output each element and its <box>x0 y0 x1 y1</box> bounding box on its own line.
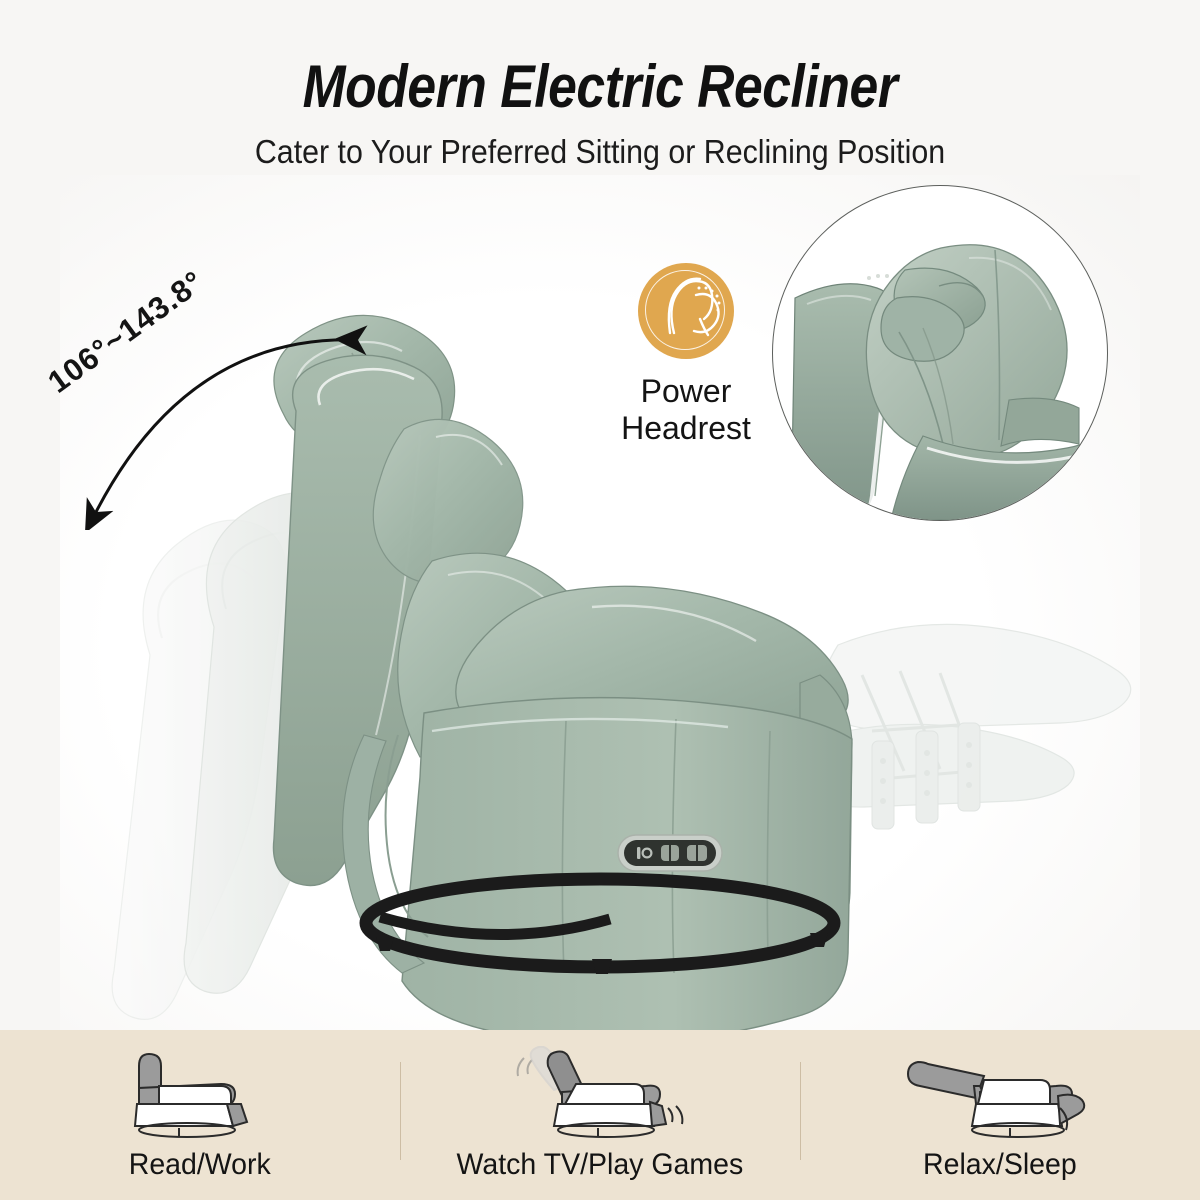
feature-read-work[interactable]: Read/Work <box>0 1030 400 1200</box>
recliner-upright-icon <box>105 1046 295 1142</box>
headrest-closeup-illustration <box>773 186 1107 520</box>
recliner-flat-icon <box>900 1046 1100 1142</box>
badge-circle <box>638 263 734 359</box>
page-title: Modern Electric Recliner <box>84 0 1116 121</box>
page-subtitle: Cater to Your Preferred Sitting or Recli… <box>48 121 1152 171</box>
headrest-rocker-icon[interactable] <box>687 845 707 861</box>
power-control-panel[interactable] <box>618 835 722 871</box>
feature-strip: Read/Work <box>0 1030 1200 1200</box>
recline-angle-annotation: 106°~143.8° <box>60 290 390 530</box>
product-infographic: Modern Electric Recliner Cater to Your P… <box>0 0 1200 1200</box>
recliner-reclined-icon <box>500 1046 700 1142</box>
feature-label: Watch TV/Play Games <box>457 1148 744 1182</box>
feature-watch-tv[interactable]: Watch TV/Play Games <box>400 1030 800 1200</box>
header: Modern Electric Recliner Cater to Your P… <box>0 0 1200 171</box>
power-headrest-icon <box>638 263 734 359</box>
feature-label: Read/Work <box>129 1148 271 1182</box>
badge-label: Power Headrest <box>588 373 784 447</box>
badge-label-line-1: Power <box>588 373 784 410</box>
recline-rocker-icon[interactable] <box>661 845 679 861</box>
power-headrest-badge: Power Headrest <box>588 263 784 447</box>
feature-label: Relax/Sleep <box>923 1148 1077 1182</box>
feature-relax-sleep[interactable]: Relax/Sleep <box>800 1030 1200 1200</box>
ghost-footrest-extended <box>811 624 1131 829</box>
hero-stage: 106°~143.8° <box>0 175 1200 1030</box>
headrest-closeup-inset <box>772 185 1108 521</box>
badge-label-line-2: Headrest <box>588 410 784 447</box>
